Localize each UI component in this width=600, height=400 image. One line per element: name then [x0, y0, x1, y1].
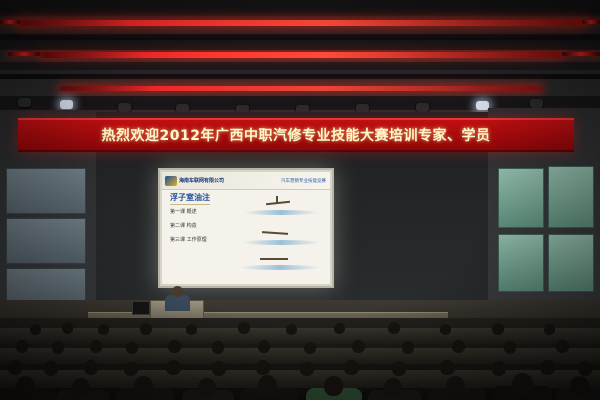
audience-person: [44, 361, 58, 376]
audience-person: [258, 375, 277, 396]
audience-person: [352, 340, 365, 353]
audience-person: [52, 341, 64, 354]
ceiling: [0, 0, 600, 118]
slide-diagram: [236, 202, 324, 272]
audience-person: [492, 361, 506, 376]
audience-person: [140, 323, 152, 335]
spotlight-2: [118, 103, 131, 112]
audience-person: [334, 323, 345, 334]
right-wall-green-panel-2: [548, 166, 594, 228]
neon-segment-left: [0, 20, 20, 24]
diagram-needle-1: [276, 196, 278, 204]
diagram-fuel-line-1: [244, 210, 318, 215]
audience-person: [440, 324, 451, 335]
spotlight-10: [18, 98, 31, 107]
ceiling-neon-strip-1: [18, 20, 584, 26]
audience-person: [98, 324, 109, 335]
audience-person: [212, 341, 224, 354]
diagram-float-2: [262, 231, 288, 235]
spotlight-9: [530, 99, 543, 108]
audience-person: [212, 361, 226, 376]
slide-bullet-1: 第一课 概述: [170, 208, 207, 215]
left-wall-panel-1: [6, 168, 86, 214]
diagram-fuel-line-3: [240, 265, 320, 270]
right-wall-green-panel-3: [498, 234, 544, 292]
audience-person: [258, 340, 270, 353]
slide-subtitle: 汽车营销专业技能竞赛: [281, 178, 326, 184]
left-wall-panel-2: [6, 218, 86, 264]
audience-person: [186, 324, 197, 335]
audience-person: [286, 324, 297, 335]
audience-person: [504, 341, 516, 354]
banner-text: 热烈欢迎2012年广西中职汽修专业技能大赛培训专家、学员: [102, 125, 491, 145]
audience-area: [0, 318, 600, 400]
audience-person: [16, 376, 35, 396]
welcome-banner: 热烈欢迎2012年广西中职汽修专业技能大赛培训专家、学员: [18, 118, 574, 152]
ceiling-neon-strip-3: [60, 86, 542, 91]
ceiling-band-low: [0, 74, 600, 79]
audience-person: [198, 378, 216, 397]
audience-person: [126, 342, 138, 354]
audience-person: [402, 341, 414, 354]
ceiling-neon-strip-2: [40, 52, 562, 58]
company-logo-icon: [165, 176, 177, 186]
diagram-float-3: [260, 258, 288, 260]
audience-person: [124, 362, 138, 376]
slide-bullet-list: 第一课 概述 第二课 构造 第三课 工作原理: [170, 208, 207, 250]
audience-person: [300, 362, 314, 376]
audience-person: [256, 360, 270, 375]
audience-person: [90, 340, 102, 353]
ceiling-band-top: [0, 0, 600, 16]
audience-person: [492, 323, 504, 335]
slide-company-name: 海南车联网有限公司: [179, 177, 224, 184]
slide-content: 海南车联网有限公司 汽车营销专业技能竞赛 浮子室油注 第一课 概述 第二课 构造…: [162, 172, 330, 284]
audience-person: [62, 322, 73, 334]
audience-person: [166, 360, 181, 375]
audience-person: [570, 376, 589, 396]
audience-person: [392, 361, 406, 376]
audience-person: [72, 378, 90, 397]
audience-person: [8, 360, 22, 375]
audience-person: [324, 376, 343, 396]
audience-person: [440, 360, 455, 375]
laptop-monitor: [132, 301, 150, 315]
presenter-head: [172, 286, 183, 297]
audience-person: [344, 360, 359, 375]
slide-bullet-3: 第三课 工作原理: [170, 236, 207, 243]
neon-segment-right-2: [562, 52, 600, 56]
audience-person: [30, 324, 41, 335]
slide-header: 海南车联网有限公司 汽车营销专业技能竞赛: [162, 172, 330, 190]
audience-person: [544, 324, 555, 335]
audience-person: [512, 373, 533, 395]
audience-person: [388, 322, 400, 334]
lecture-hall-photo: 热烈欢迎2012年广西中职汽修专业技能大赛培训专家、学员 海南车联网有限公司 汽…: [0, 0, 600, 400]
neon-segment-left-2: [8, 52, 40, 56]
spotlight-7: [416, 103, 429, 112]
audience-person: [16, 340, 28, 353]
audience-person: [238, 322, 250, 334]
spotlight-1: [60, 100, 73, 109]
audience-person: [134, 376, 153, 396]
audience-person: [540, 360, 555, 375]
audience-person: [304, 342, 316, 354]
diagram-fuel-line-2: [242, 240, 320, 245]
diagram-float-1: [266, 201, 290, 205]
ceiling-slot-a: [0, 40, 600, 50]
right-wall-green-panel-1: [498, 168, 544, 228]
audience-person: [384, 378, 402, 397]
slide-bullet-2: 第二课 构造: [170, 222, 207, 229]
audience-person: [578, 361, 592, 376]
ceiling-slot-b: [0, 62, 600, 70]
audience-person: [556, 340, 569, 353]
slide-title: 浮子室油注: [170, 192, 210, 205]
audience-person: [446, 376, 465, 396]
neon-segment-right: [582, 20, 600, 24]
audience-person: [452, 340, 465, 353]
presenter-body: [165, 295, 190, 311]
audience-person: [84, 360, 98, 375]
audience-person: [168, 340, 181, 353]
projection-screen: 海南车联网有限公司 汽车营销专业技能竞赛 浮子室油注 第一课 概述 第二课 构造…: [158, 168, 334, 288]
right-wall-green-panel-4: [548, 234, 594, 292]
